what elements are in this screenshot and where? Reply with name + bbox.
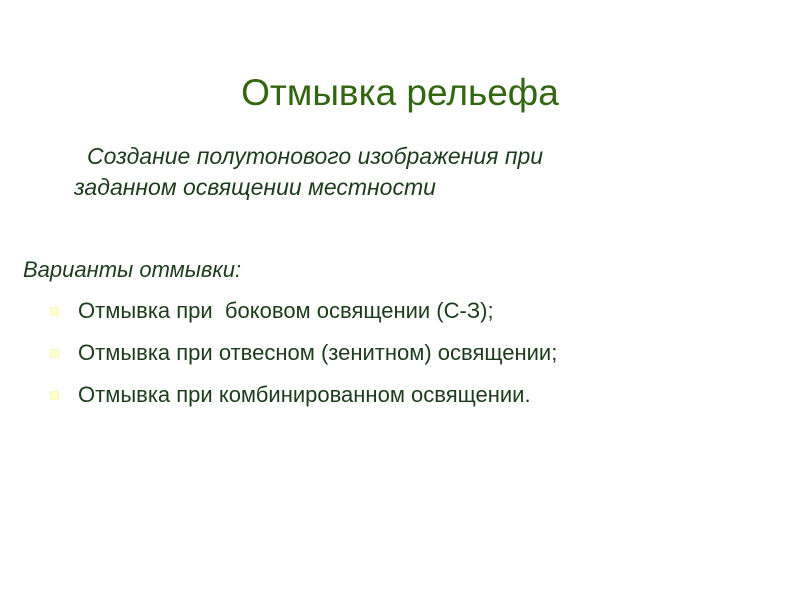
square-bullet-icon (50, 391, 59, 400)
subtitle-line-2: заданном освящении местности (74, 172, 734, 203)
list-item: Отмывка при отвесном (зенитном) освящени… (23, 338, 763, 368)
slide-canvas: Отмывка рельефа Создание полутонового из… (0, 0, 800, 600)
page-title: Отмывка рельефа (0, 71, 800, 115)
bullet-list: Отмывка при боковом освящении (С-З); Отм… (23, 296, 763, 410)
list-item-label: Отмывка при комбинированном освящении. (78, 380, 763, 410)
list-heading: Варианты отмывки: (23, 256, 241, 284)
square-bullet-icon (50, 307, 59, 316)
list-item-label: Отмывка при отвесном (зенитном) освящени… (78, 338, 763, 368)
subtitle-line-1: Создание полутонового изображения при (74, 141, 734, 172)
slide-subtitle: Создание полутонового изображения при за… (74, 141, 734, 203)
list-item-label: Отмывка при боковом освящении (С-З); (78, 296, 763, 326)
list-item: Отмывка при комбинированном освящении. (23, 380, 763, 410)
square-bullet-icon (50, 349, 59, 358)
list-item: Отмывка при боковом освящении (С-З); (23, 296, 763, 326)
